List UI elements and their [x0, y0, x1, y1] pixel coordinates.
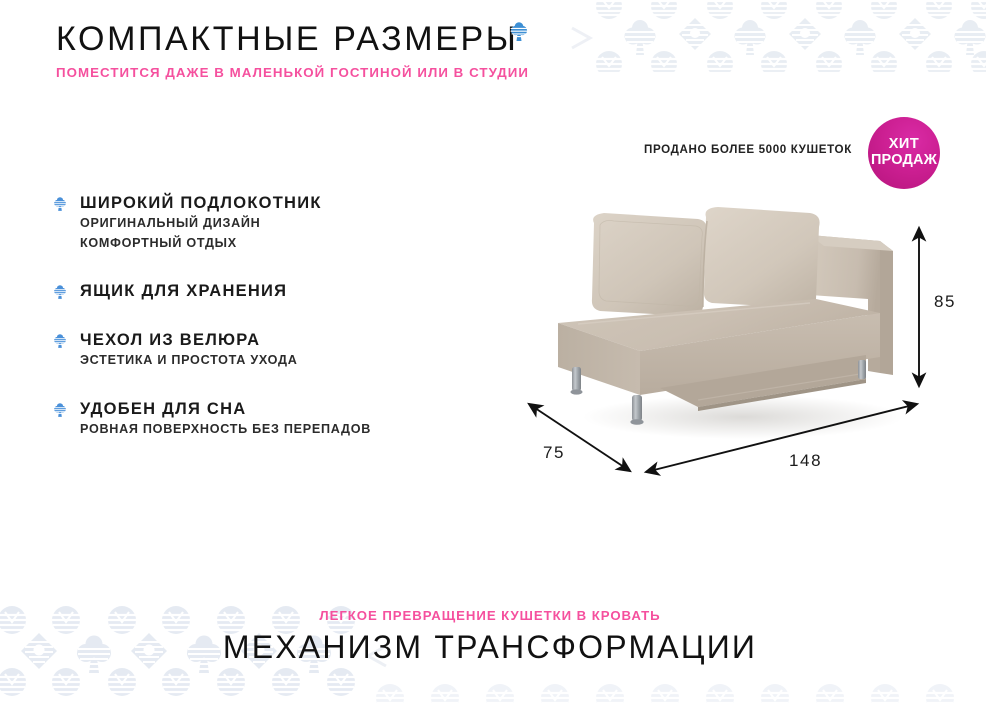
header: КОМПАКТНЫЕ РАЗМЕРЫ ПОМЕСТИТСЯ ДАЖЕ В МАЛ… — [56, 22, 529, 80]
feature-subtitle: РОВНАЯ ПОВЕРХНОСТЬ БЕЗ ПЕРЕПАДОВ — [80, 421, 452, 438]
footer: ЛЕГКОЕ ПРЕВРАЩЕНИЕ КУШЕТКИ В КРОВАТЬ МЕХ… — [0, 608, 986, 666]
feature-subtitle: КОМФОРТНЫЙ ОТДЫХ — [80, 235, 452, 252]
status-badge: ХИТ ПРОДАЖ — [868, 117, 940, 189]
feature-title: УДОБЕН ДЛЯ СНА — [80, 399, 452, 419]
badge-label-line1: ХИТ — [889, 137, 919, 153]
clover-icon — [508, 22, 530, 44]
footer-kicker: ЛЕГКОЕ ПРЕВРАЩЕНИЕ КУШЕТКИ В КРОВАТЬ — [0, 608, 980, 623]
feature-title: ЯЩИК ДЛЯ ХРАНЕНИЯ — [80, 281, 452, 301]
sold-count-note: ПРОДАНО БОЛЕЕ 5000 КУШЕТОК — [644, 143, 852, 156]
decorative-pattern-bottom-strip — [360, 664, 986, 704]
clover-bullet-icon — [52, 285, 68, 301]
feature-subtitle: ОРИГИНАЛЬНЫЙ ДИЗАЙН — [80, 215, 452, 232]
clover-bullet-icon — [52, 334, 68, 350]
page-title: КОМПАКТНЫЕ РАЗМЕРЫ — [56, 22, 529, 56]
feature-item: ЧЕХОЛ ИЗ ВЕЛЮРА ЭСТЕТИКА И ПРОСТОТА УХОД… — [52, 330, 452, 370]
clover-bullet-icon — [52, 197, 68, 213]
clover-bullet-icon — [52, 403, 68, 419]
dimension-height-label: 85 — [934, 292, 956, 312]
decorative-pattern-top-right — [552, 0, 986, 74]
footer-title: МЕХАНИЗМ ТРАНСФОРМАЦИИ — [0, 629, 980, 666]
badge-label-line2: ПРОДАЖ — [871, 153, 937, 169]
product-image-sofa — [548, 195, 918, 455]
feature-item: ШИРОКИЙ ПОДЛОКОТНИК ОРИГИНАЛЬНЫЙ ДИЗАЙН … — [52, 193, 452, 252]
feature-subtitle: ЭСТЕТИКА И ПРОСТОТА УХОДА — [80, 352, 452, 369]
feature-item: УДОБЕН ДЛЯ СНА РОВНАЯ ПОВЕРХНОСТЬ БЕЗ ПЕ… — [52, 399, 452, 439]
features-list: ШИРОКИЙ ПОДЛОКОТНИК ОРИГИНАЛЬНЫЙ ДИЗАЙН … — [52, 193, 452, 438]
page-subtitle: ПОМЕСТИТСЯ ДАЖЕ В МАЛЕНЬКОЙ ГОСТИНОЙ ИЛИ… — [56, 65, 529, 80]
feature-item: ЯЩИК ДЛЯ ХРАНЕНИЯ — [52, 281, 452, 301]
feature-title: ШИРОКИЙ ПОДЛОКОТНИК — [80, 193, 452, 213]
feature-title: ЧЕХОЛ ИЗ ВЕЛЮРА — [80, 330, 452, 350]
